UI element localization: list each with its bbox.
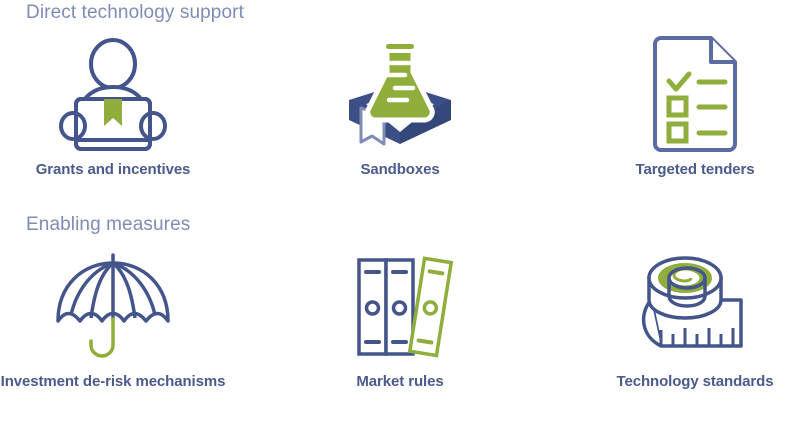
person-certificate-icon	[0, 36, 238, 154]
item-market-rules: Market rules	[275, 248, 525, 392]
item-label: Technology standards	[570, 372, 800, 392]
item-grants-and-incentives: Grants and incentives	[0, 36, 238, 180]
item-label: Market rules	[275, 372, 525, 392]
item-label: Sandboxes	[275, 160, 525, 180]
tape-measure-icon	[570, 248, 800, 366]
item-label: Targeted tenders	[570, 160, 800, 180]
item-investment-de-risk-mechanisms: Investment de-risk mechanisms	[0, 248, 238, 392]
flask-on-book-icon	[275, 36, 525, 154]
section-title-direct-technology-support: Direct technology support	[26, 2, 244, 24]
item-label: Grants and incentives	[0, 160, 238, 180]
item-technology-standards: Technology standards	[570, 248, 800, 392]
item-label: Investment de-risk mechanisms	[0, 372, 238, 392]
infographic-board: Direct technology support Grants and in	[0, 0, 800, 437]
section-title-enabling-measures: Enabling measures	[26, 214, 190, 236]
item-targeted-tenders: Targeted tenders	[570, 36, 800, 180]
checklist-document-icon	[570, 36, 800, 154]
binders-icon	[275, 248, 525, 366]
umbrella-icon	[0, 248, 238, 366]
item-sandboxes: Sandboxes	[275, 36, 525, 180]
